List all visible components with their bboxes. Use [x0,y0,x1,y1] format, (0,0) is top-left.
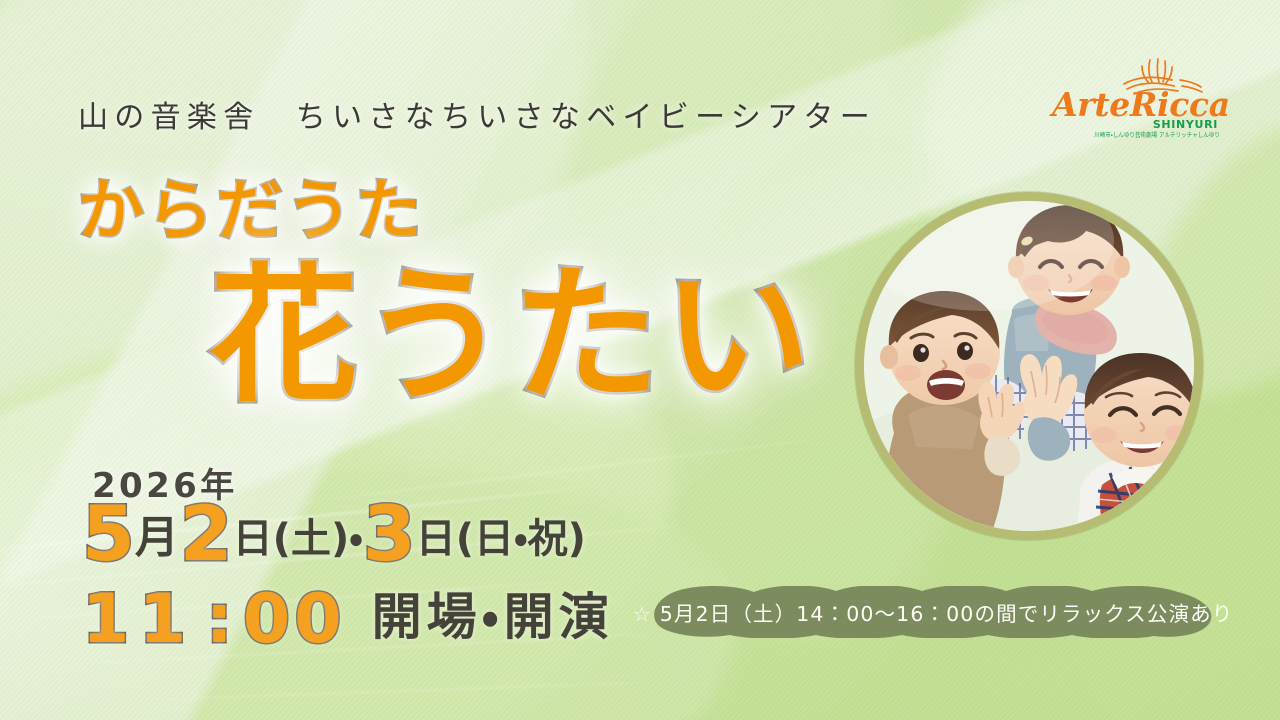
poster-canvas: 山の音楽舎 ちいさなちいさなベイビーシアター ArteRicca SH [0,0,1280,720]
date-day2-weekday: (日・祝) [456,516,586,562]
series-subtitle: 山の音楽舎 ちいさなちいさなベイビーシアター [78,92,876,136]
date-month-kanji: 月 [135,512,180,563]
logo-fineprint: 川崎市・しんゆり芸術劇場 アルテリッチャしんゆり [1094,131,1220,140]
date-day2-number: 3 [363,489,416,578]
kicker-title: からだうた [78,178,425,244]
arte-ricca-logo: ArteRicca SHINYURI 川崎市・しんゆり芸術劇場 アルテリッチャし… [1052,60,1222,148]
page-title: 花うたい [210,262,814,410]
event-date: 5月2日(土)・3日(日・祝) [82,496,586,572]
date-day1-number: 2 [180,489,233,578]
time-hour: 11 [82,580,196,659]
logo-wordmark: ArteRicca [1052,88,1222,121]
date-day1-weekday: (土) [273,516,350,562]
relax-performance-banner: ☆ 5月2日（土）14：00〜16：00の間でリラックス公演あり [650,586,1216,638]
logo-subtext: SHINYURI [1153,118,1218,131]
date-day1-kanji: 日 [233,516,273,562]
time-minute: 00 [243,580,346,659]
babies-photo [855,192,1203,540]
time-label: 開場・開演 [372,588,614,646]
poster-content: 山の音楽舎 ちいさなちいさなベイビーシアター ArteRicca SH [0,0,1280,720]
time-colon: : [196,580,243,659]
baby-right [1076,353,1194,531]
event-time: 11:00開場・開演 [82,586,614,654]
date-day2-kanji: 日 [416,516,456,562]
relax-banner-text: ☆ 5月2日（土）14：00〜16：00の間でリラックス公演あり [650,586,1216,638]
date-separator: ・ [349,516,363,562]
date-month-number: 5 [82,489,135,578]
photo-illustration [864,201,1194,531]
